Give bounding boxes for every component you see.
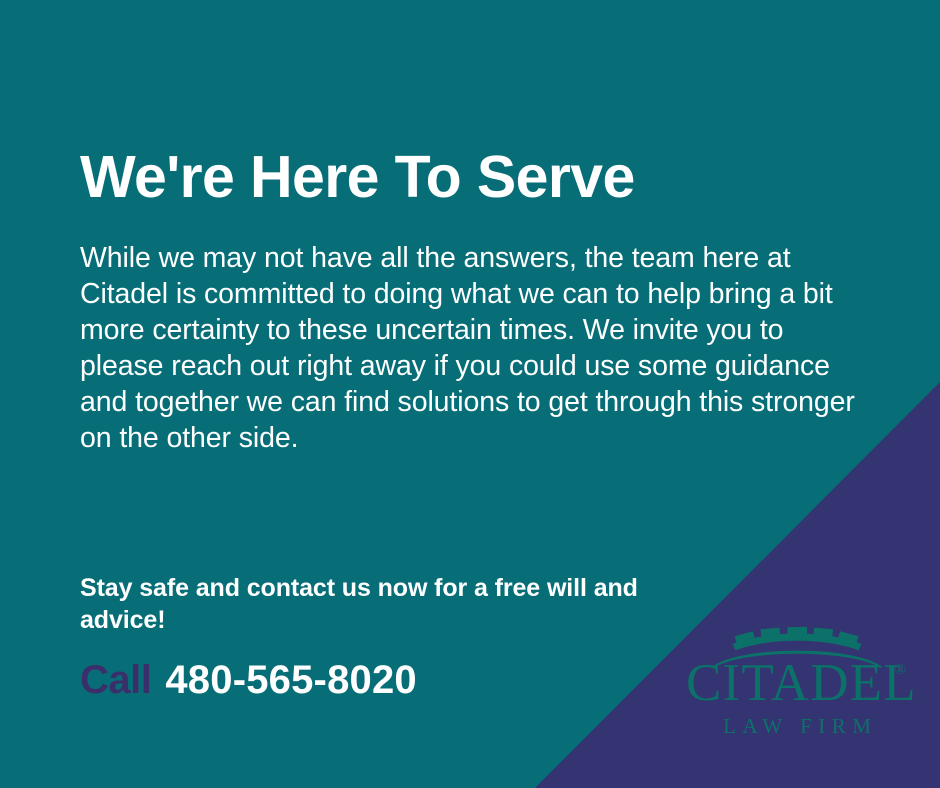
body-paragraph: While we may not have all the answers, t… (80, 240, 860, 456)
citadel-law-firm-logo[interactable]: CITADEL ® LAW FIRM (686, 624, 908, 752)
call-label: Call (80, 658, 151, 703)
page-title: We're Here To Serve (80, 147, 635, 207)
cta-text: Stay safe and contact us now for a free … (80, 572, 680, 636)
phone-call-to-action[interactable]: Call 480-565-8020 (80, 658, 417, 703)
phone-number[interactable]: 480-565-8020 (165, 658, 417, 703)
registered-trademark-icon: ® (895, 662, 906, 679)
logo-wordmark: CITADEL (686, 657, 908, 710)
promo-graphic: We're Here To Serve While we may not hav… (0, 0, 940, 788)
logo-tagline: LAW FIRM (686, 716, 908, 737)
